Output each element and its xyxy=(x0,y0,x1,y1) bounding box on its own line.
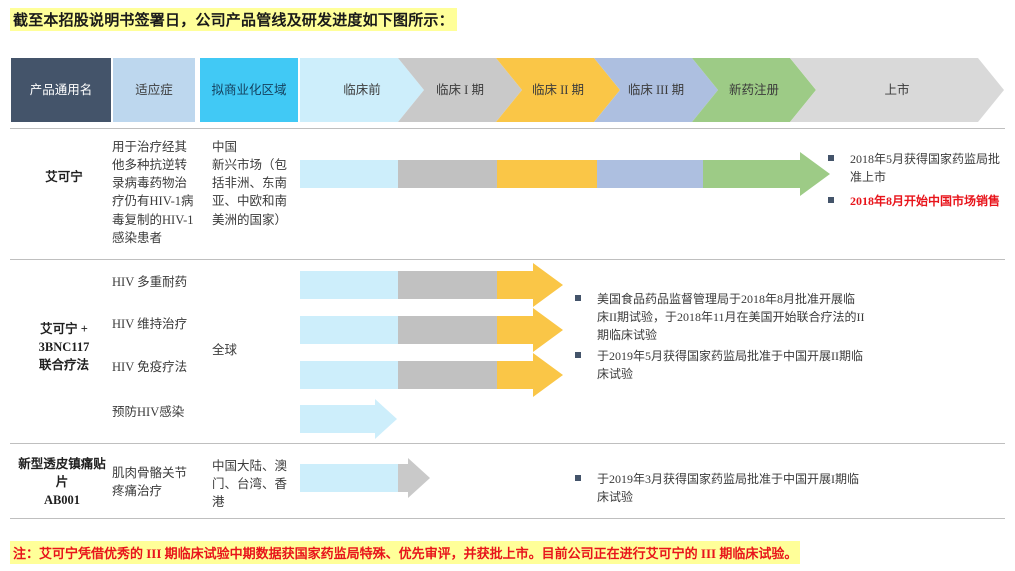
progress-arrow-head-phase-2 xyxy=(497,263,563,307)
note-row-3-item-1: 于2019年3月获得国家药监局批准于中国开展I期临床试验 xyxy=(575,470,865,506)
bullet-icon xyxy=(575,295,581,301)
progress-arrow-head-nda xyxy=(703,152,830,196)
bullet-icon xyxy=(828,155,834,161)
header-label: 上市 xyxy=(884,83,909,98)
note-text: 于2019年5月获得国家药监局批准于中国开展II期临床试验 xyxy=(597,347,865,383)
header-label: 临床 I 期 xyxy=(436,83,484,98)
progress-bar-row-2-sub-4 xyxy=(300,405,397,433)
product-pipeline-figure: 截至本招股说明书签署日，公司产品管线及研发进度如下图所示： 产品通用名 适应症 … xyxy=(0,0,1015,571)
note-text: 2018年5月获得国家药监局批准上市 xyxy=(850,150,1008,186)
header-label: 拟商业化区域 xyxy=(211,83,286,98)
note-row-2-item-2: 于2019年5月获得国家药监局批准于中国开展II期临床试验 xyxy=(575,347,865,383)
progress-segment-preclinical xyxy=(300,271,398,299)
indication-row-1: 用于治疗经其他多种抗逆转录病毒药物治疗仍有HIV-1病毒复制的HIV-1感染患者 xyxy=(112,138,196,247)
progress-arrow-head-phase-1 xyxy=(398,458,430,498)
note-text: 美国食品药品监督管理局于2018年8月批准开展临床II期试验，于2018年11月… xyxy=(597,290,865,344)
header-label: 临床 II 期 xyxy=(532,83,584,98)
progress-bar-row-2-sub-1 xyxy=(300,271,563,299)
progress-bar-row-2-sub-3 xyxy=(300,361,563,389)
note-text: 2018年8月开始中国市场销售 xyxy=(850,192,1008,210)
row-separator-1 xyxy=(10,259,1005,260)
header-label: 新药注册 xyxy=(729,83,779,98)
note-text: 于2019年3月获得国家药监局批准于中国开展I期临床试验 xyxy=(597,470,865,506)
progress-segment-phase-1 xyxy=(398,316,497,344)
row-separator-bottom xyxy=(10,518,1005,519)
bullet-icon xyxy=(828,197,834,203)
indication-row-2-sub-1: HIV 多重耐药 xyxy=(112,273,212,291)
product-name-row-1: 艾可宁 xyxy=(20,168,108,186)
progress-segment-preclinical xyxy=(300,160,398,188)
progress-arrow-head-phase-2 xyxy=(497,353,563,397)
progress-arrow-head-phase-2 xyxy=(497,308,563,352)
header-cell-region: 拟商业化区域 xyxy=(200,58,298,122)
intro-text: 截至本招股说明书签署日，公司产品管线及研发进度如下图所示： xyxy=(10,8,457,31)
progress-segment-phase-3 xyxy=(597,160,703,188)
footer-note: 注：艾可宁凭借优秀的 III 期临床试验中期数据获国家药监局特殊、优先审评，并获… xyxy=(10,541,800,564)
note-row-1-item-2: 2018年8月开始中国市场销售 xyxy=(828,192,1008,210)
product-name-row-3: 新型透皮镇痛贴片 AB001 xyxy=(14,455,110,509)
progress-segment-preclinical xyxy=(300,361,398,389)
bullet-icon xyxy=(575,475,581,481)
progress-segment-phase-2 xyxy=(497,160,597,188)
header-label: 临床前 xyxy=(343,83,381,98)
header-label: 产品通用名 xyxy=(30,83,93,98)
progress-bar-row-3 xyxy=(300,464,430,492)
region-row-2: 全球 xyxy=(212,341,294,359)
region-row-3: 中国大陆、澳门、台湾、香港 xyxy=(212,457,294,511)
indication-row-2-sub-4: 预防HIV感染 xyxy=(112,403,212,421)
indication-row-2-sub-2: HIV 维持治疗 xyxy=(112,315,212,333)
row-separator-top xyxy=(10,128,1005,129)
product-name-row-2: 艾可宁 + 3BNC117 联合疗法 xyxy=(20,320,108,374)
progress-segment-phase-1 xyxy=(398,271,497,299)
row-separator-2 xyxy=(10,443,1005,444)
header-cell-product-name: 产品通用名 xyxy=(11,58,111,122)
progress-segment-phase-1 xyxy=(398,160,497,188)
pipeline-stage-header: 产品通用名 适应症 拟商业化区域 临床前 临床 I 期 临床 II 期 临床 I… xyxy=(0,58,1015,122)
indication-row-2-sub-3: HIV 免疫疗法 xyxy=(112,358,212,376)
progress-segment-preclinical xyxy=(300,316,398,344)
region-row-1: 中国 新兴市场（包括非洲、东南亚、中欧和南美洲的国家） xyxy=(212,138,294,229)
header-label: 临床 III 期 xyxy=(628,83,684,98)
progress-bar-row-1 xyxy=(300,160,830,188)
note-row-2-item-1: 美国食品药品监督管理局于2018年8月批准开展临床II期试验，于2018年11月… xyxy=(575,290,865,344)
header-cell-preclinical: 临床前 xyxy=(300,58,424,122)
progress-bar-row-2-sub-2 xyxy=(300,316,563,344)
progress-segment-preclinical xyxy=(300,464,398,492)
note-row-1-item-1: 2018年5月获得国家药监局批准上市 xyxy=(828,150,1008,186)
header-label: 适应症 xyxy=(135,83,173,98)
indication-row-3: 肌肉骨骼关节疼痛治疗 xyxy=(112,464,196,500)
bullet-icon xyxy=(575,352,581,358)
progress-arrow-head-preclinical xyxy=(300,399,397,439)
header-cell-indication: 适应症 xyxy=(113,58,195,122)
header-cell-market: 上市 xyxy=(790,58,1004,122)
progress-segment-phase-1 xyxy=(398,361,497,389)
